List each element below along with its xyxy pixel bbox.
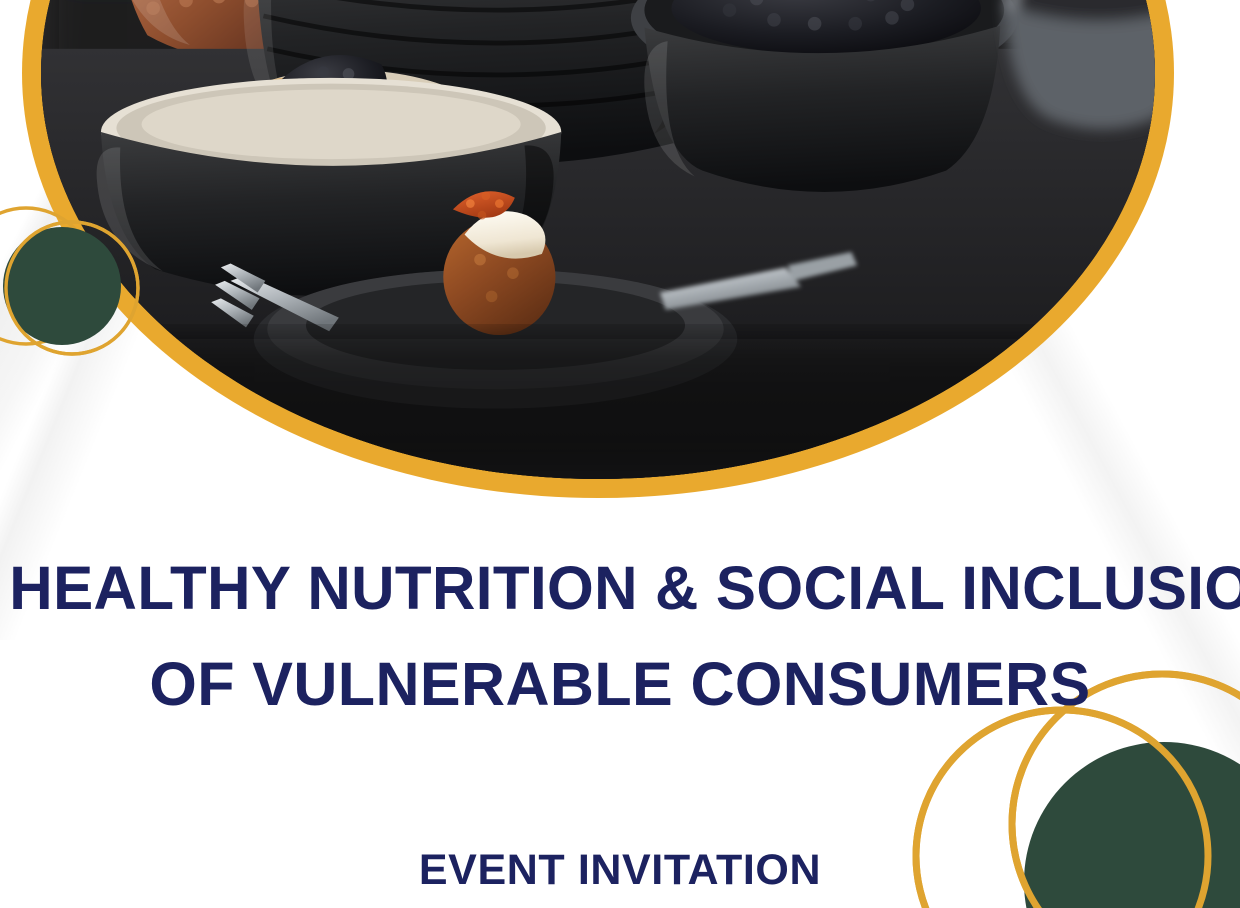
food-and-drinks-photo: [41, 0, 1155, 479]
poster-title-line-1: HEALTHY NUTRITION & SOCIAL INCLUSION: [9, 540, 1230, 636]
hero-photo-clip: [41, 0, 1155, 479]
event-invitation-poster: HEALTHY NUTRITION & SOCIAL INCLUSION OF …: [0, 0, 1240, 908]
poster-text-block: HEALTHY NUTRITION & SOCIAL INCLUSION OF …: [0, 540, 1240, 895]
poster-subtitle: EVENT INVITATION: [0, 732, 1240, 895]
poster-title-line-2: OF VULNERABLE CONSUMERS: [0, 636, 1240, 732]
hero-photo-frame: [22, 0, 1174, 498]
